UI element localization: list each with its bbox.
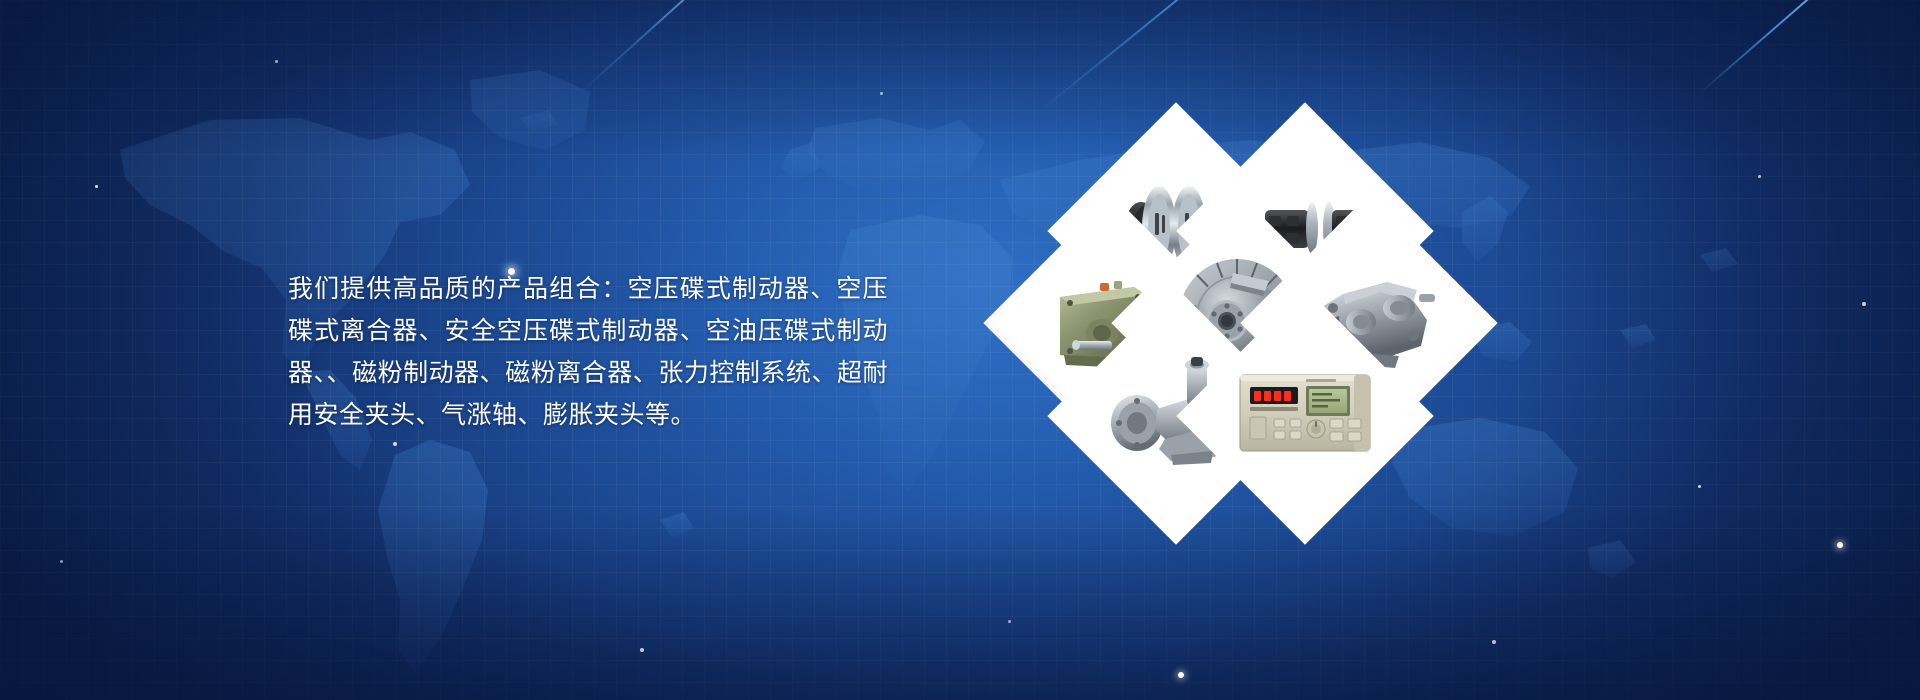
star-dot <box>95 185 98 188</box>
shooting-star-streak <box>579 0 707 94</box>
star-dot <box>640 648 644 652</box>
star-dot <box>1178 672 1184 678</box>
hero-banner: 我们提供高品质的产品组合：空压碟式制动器、空压碟式离合器、安全空压碟式制动器、空… <box>0 0 1920 700</box>
star-dot <box>1837 542 1843 548</box>
star-dot <box>275 60 278 63</box>
hero-paragraph: 我们提供高品质的产品组合：空压碟式制动器、空压碟式离合器、安全空压碟式制动器、空… <box>288 268 888 436</box>
shooting-star-streak <box>1699 0 1881 94</box>
top-fade-overlay <box>0 0 1920 160</box>
star-dot <box>1698 485 1701 488</box>
star-dot <box>1862 302 1866 306</box>
star-dot <box>393 442 397 446</box>
star-dot <box>60 560 63 563</box>
hero-copy-block: 我们提供高品质的产品组合：空压碟式制动器、空压碟式离合器、安全空压碟式制动器、空… <box>288 268 888 436</box>
product-diamond-cluster <box>1085 140 1505 565</box>
tile-artwork <box>1214 325 1396 507</box>
bottom-fade-overlay <box>0 510 1920 700</box>
star-dot <box>880 92 883 95</box>
shooting-star-streak <box>1039 0 1297 112</box>
star-dot <box>1008 620 1011 623</box>
star-dot <box>1492 640 1496 644</box>
star-dot <box>1758 175 1761 178</box>
